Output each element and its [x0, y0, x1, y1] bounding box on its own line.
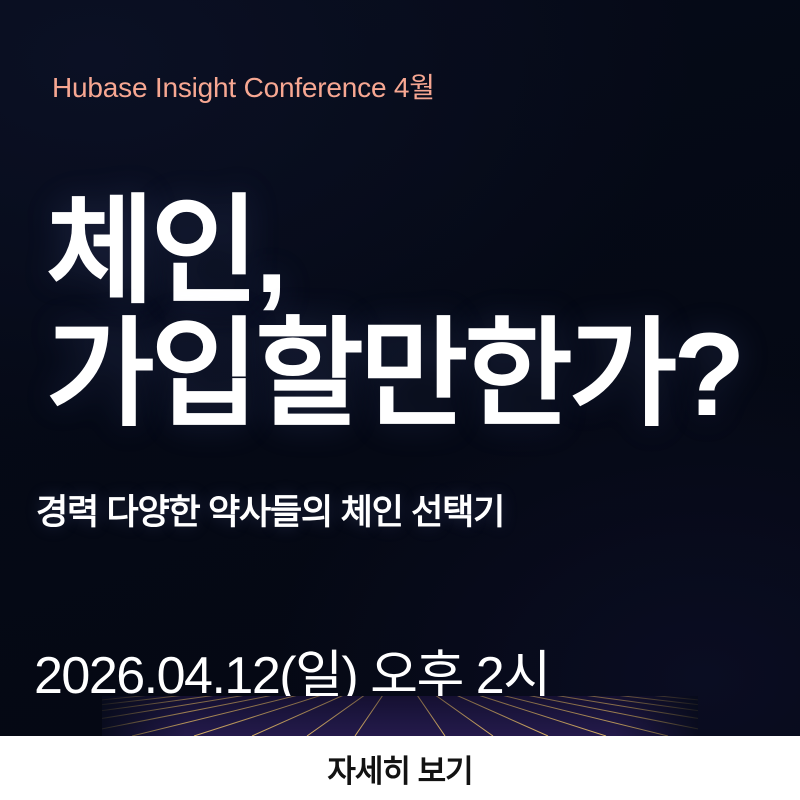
event-poster: Hubase Insight Conference 4월 체인, 가입할만한가?… — [0, 0, 800, 800]
cta-label: 자세히 보기 — [327, 746, 472, 791]
conference-eyebrow-label: Hubase Insight Conference 4월 — [52, 66, 435, 106]
subheadline: 경력 다양한 약사들의 체인 선택기 — [36, 484, 504, 535]
poster-hero: Hubase Insight Conference 4월 체인, 가입할만한가?… — [0, 0, 800, 736]
headline-line-1: 체인, — [46, 196, 766, 309]
page-title: 체인, 가입할만한가? — [46, 196, 766, 433]
cta-bar[interactable]: 자세히 보기 — [0, 736, 800, 800]
perspective-grid-decoration — [102, 696, 698, 736]
perspective-grid-icon — [102, 696, 698, 736]
headline-line-2: 가입할만한가? — [46, 319, 766, 432]
